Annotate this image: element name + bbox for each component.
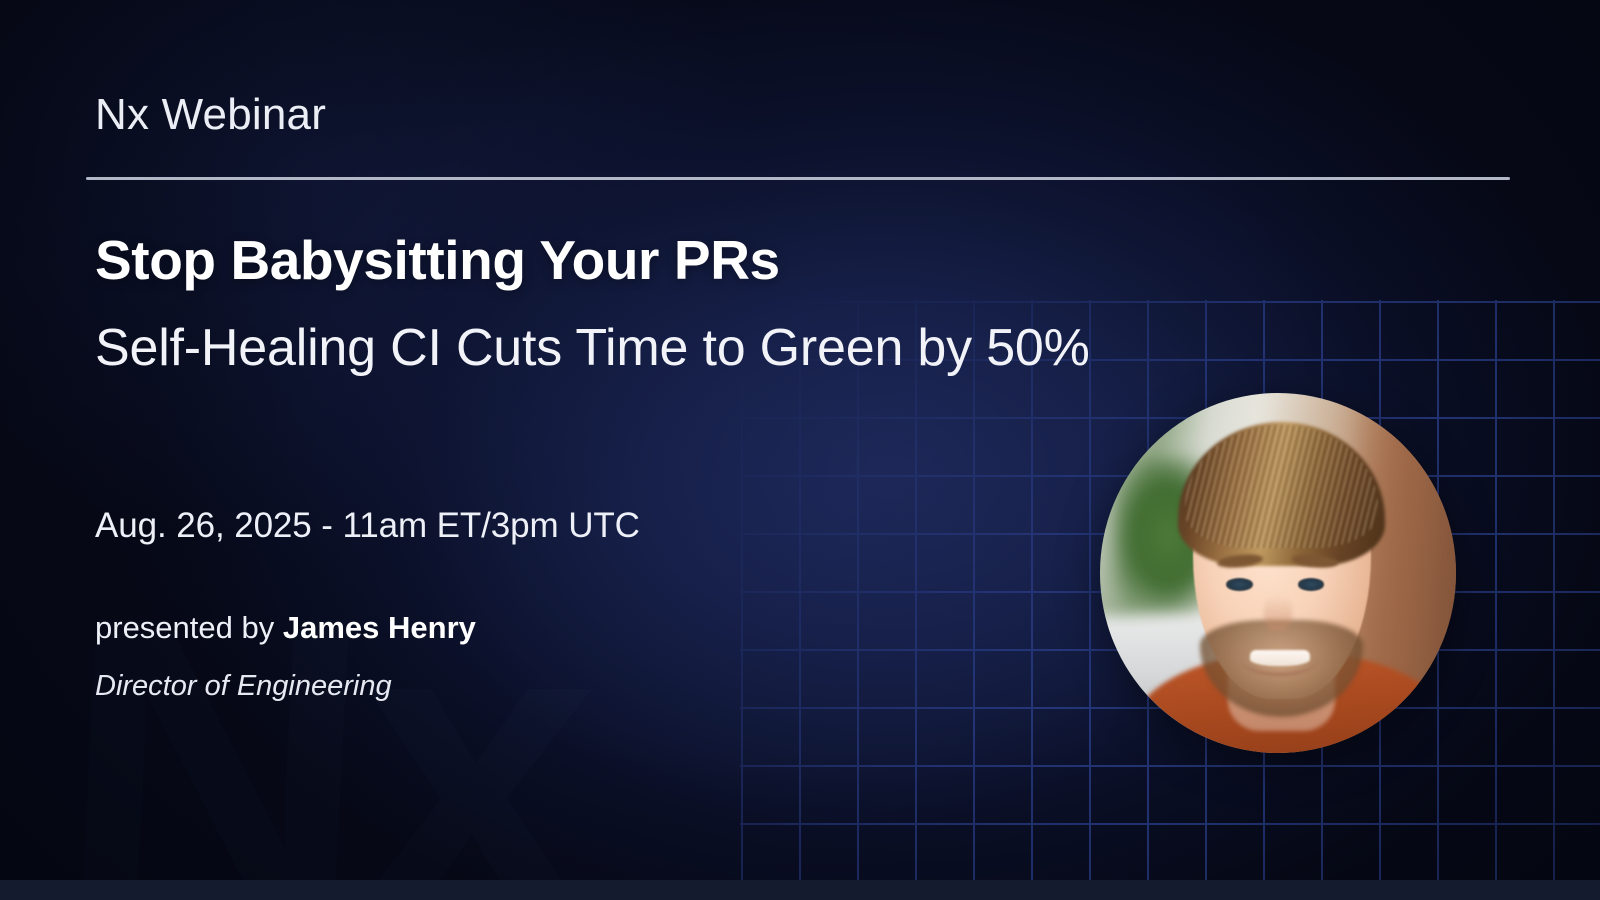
eyebrow-label: Nx Webinar bbox=[95, 90, 326, 140]
page-title: Stop Babysitting Your PRs bbox=[95, 228, 780, 292]
presenter-avatar bbox=[1100, 393, 1456, 753]
presenter-prefix: presented by bbox=[95, 610, 283, 645]
presenter-role: Director of Engineering bbox=[95, 670, 392, 703]
footer-strip bbox=[0, 880, 1600, 900]
avatar-eye-right bbox=[1298, 578, 1325, 590]
avatar-nose bbox=[1264, 595, 1292, 631]
avatar-eye-left bbox=[1226, 578, 1253, 590]
event-datetime: Aug. 26, 2025 - 11am ET/3pm UTC bbox=[95, 506, 640, 546]
header-divider bbox=[86, 177, 1510, 180]
page-subtitle: Self-Healing CI Cuts Time to Green by 50… bbox=[95, 312, 1095, 385]
presenter-line: presented by James Henry bbox=[95, 610, 476, 646]
presenter-name: James Henry bbox=[283, 610, 476, 645]
webinar-promo-slide: Nx Nx Webinar Stop Babysitting Your PRs … bbox=[0, 0, 1600, 900]
avatar-teeth bbox=[1250, 650, 1311, 665]
